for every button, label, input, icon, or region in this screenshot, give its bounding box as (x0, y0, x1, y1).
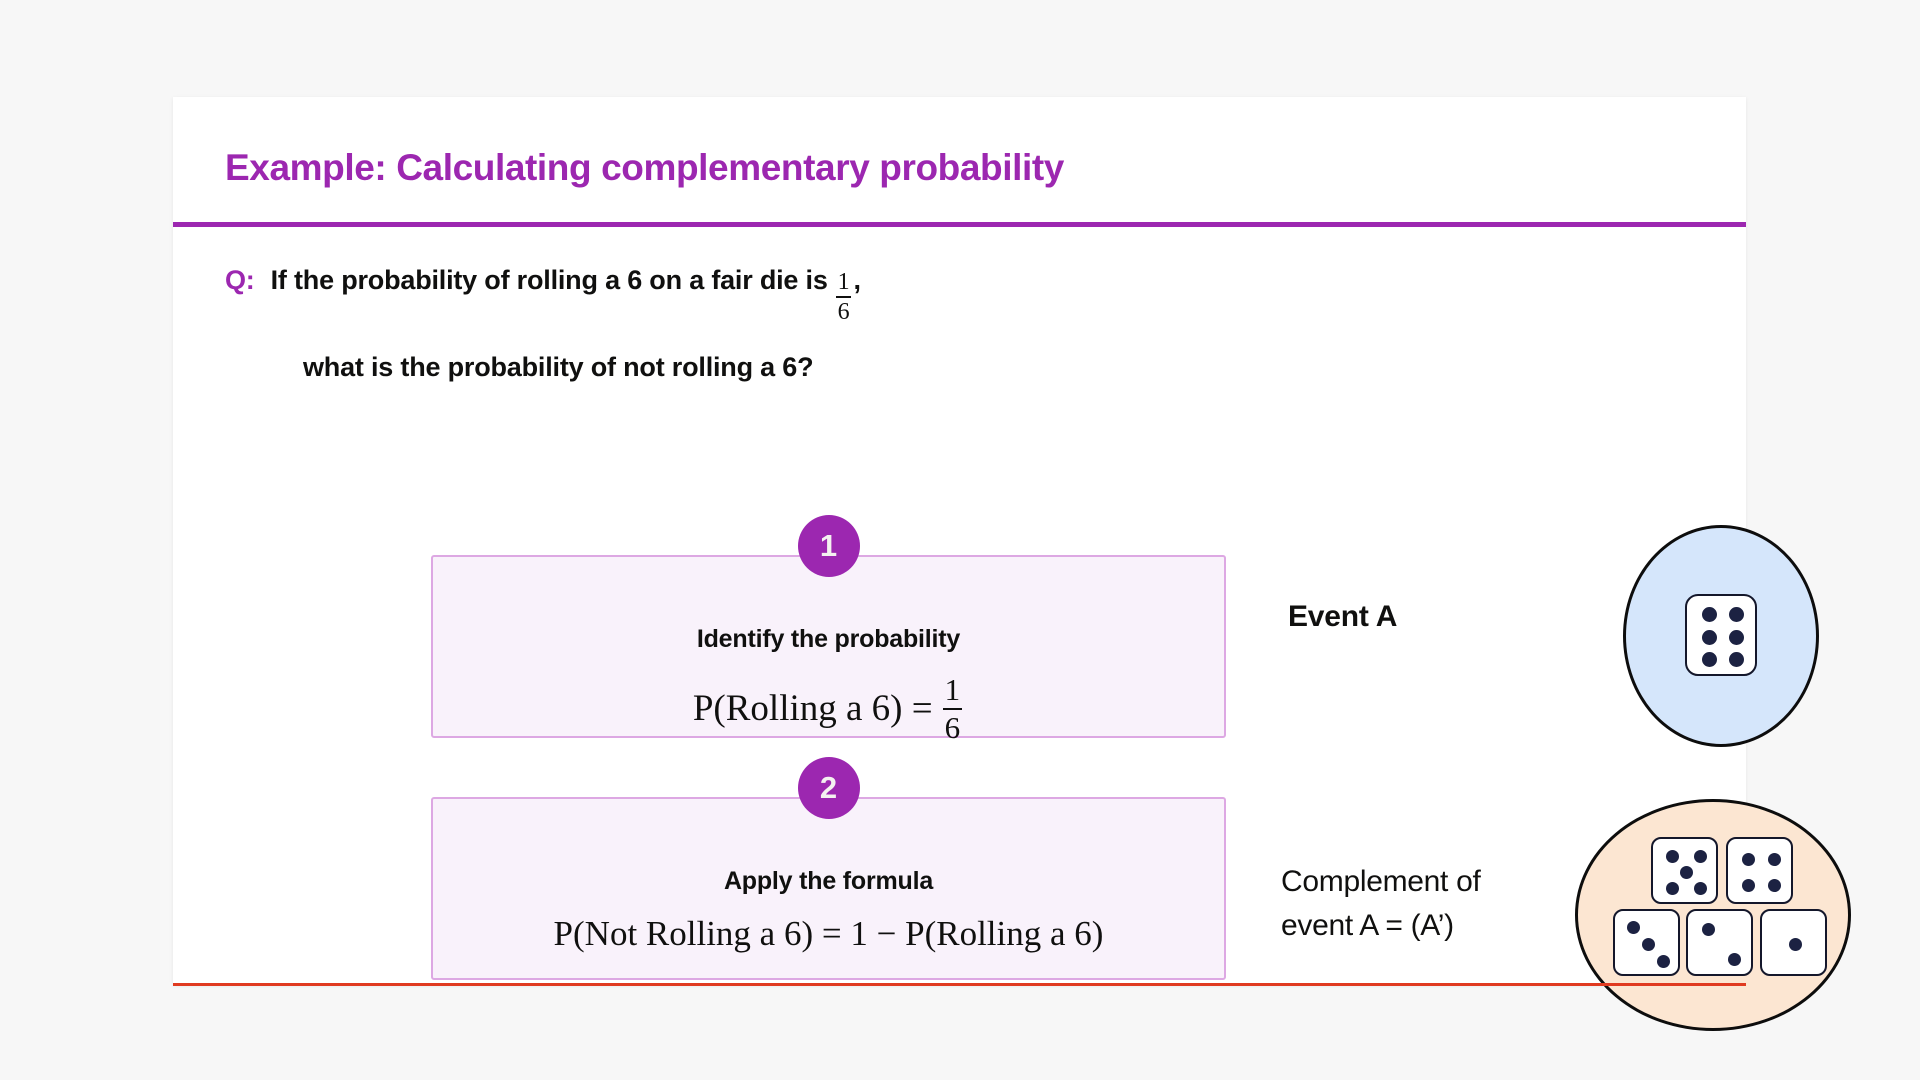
die-pip (1789, 938, 1802, 951)
step-1-title: Identify the probability (433, 625, 1224, 654)
die-face-2 (1686, 909, 1753, 976)
die-pip (1666, 850, 1679, 863)
step-1-box: Identify the probability P(Rolling a 6) … (431, 555, 1226, 738)
question-line-1-text: If the probability of rolling a 6 on a f… (271, 265, 828, 296)
question-fraction: 1 6 (836, 270, 852, 325)
card-bottom-rule (173, 983, 1746, 986)
step-2-formula-text: P(Not Rolling a 6) = 1 − P(Rolling a 6) (554, 914, 1104, 954)
slide-card: Example: Calculating complementary proba… (173, 97, 1746, 985)
die-pip (1666, 882, 1679, 895)
die-face-6 (1685, 594, 1757, 676)
die-face-1 (1760, 909, 1827, 976)
fraction-bar (836, 296, 852, 298)
question-marker: Q: (225, 265, 255, 296)
step-1-fraction-numerator: 1 (943, 674, 963, 706)
step-1-formula-text: P(Rolling a 6) = (693, 687, 933, 730)
die-pip (1680, 866, 1693, 879)
die-pip (1729, 607, 1744, 622)
die-pip (1729, 630, 1744, 645)
die-pip (1742, 853, 1755, 866)
complement-label: Complement of event A = (A’) (1281, 860, 1571, 947)
step-2-box: Apply the formula P(Not Rolling a 6) = 1… (431, 797, 1226, 980)
die-pip (1702, 630, 1717, 645)
question-fraction-numerator: 1 (836, 270, 852, 294)
question-trailing-comma: , (853, 265, 860, 296)
die-pip (1694, 850, 1707, 863)
step-1: 1 Identify the probability P(Rolling a 6… (431, 555, 1226, 738)
page-title: Example: Calculating complementary proba… (225, 147, 1064, 189)
die-pip (1702, 607, 1717, 622)
complement-label-line-2: event A = (A’) (1281, 904, 1571, 948)
die-pip (1702, 923, 1715, 936)
step-2-formula: P(Not Rolling a 6) = 1 − P(Rolling a 6) (433, 914, 1224, 954)
die-pip (1728, 953, 1741, 966)
question-fraction-denominator: 6 (836, 300, 852, 324)
die-face-4 (1726, 837, 1793, 904)
title-divider (173, 222, 1746, 227)
complement-label-line-1: Complement of (1281, 860, 1571, 904)
event-a-label: Event A (1288, 600, 1397, 634)
die-pip (1742, 879, 1755, 892)
die-pip (1642, 938, 1655, 951)
die-pip (1768, 879, 1781, 892)
step-1-formula-fraction: 1 6 (943, 674, 963, 743)
question-line-2: what is the probability of not rolling a… (303, 352, 1185, 383)
step-2: 2 Apply the formula P(Not Rolling a 6) =… (431, 797, 1226, 980)
die-pip (1657, 955, 1670, 968)
question-block: Q: If the probability of rolling a 6 on … (225, 265, 1185, 383)
die-pip (1729, 652, 1744, 667)
step-1-fraction-denominator: 6 (943, 712, 963, 744)
question-line-1: Q: If the probability of rolling a 6 on … (225, 265, 1185, 325)
step-1-badge: 1 (798, 515, 860, 577)
die-pip (1768, 853, 1781, 866)
step-2-badge: 2 (798, 757, 860, 819)
step-2-title: Apply the formula (433, 867, 1224, 896)
die-pip (1702, 652, 1717, 667)
step-1-formula: P(Rolling a 6) = 1 6 (433, 674, 1224, 743)
die-pip (1694, 882, 1707, 895)
die-face-5 (1651, 837, 1718, 904)
die-face-3 (1613, 909, 1680, 976)
die-pip (1627, 921, 1640, 934)
